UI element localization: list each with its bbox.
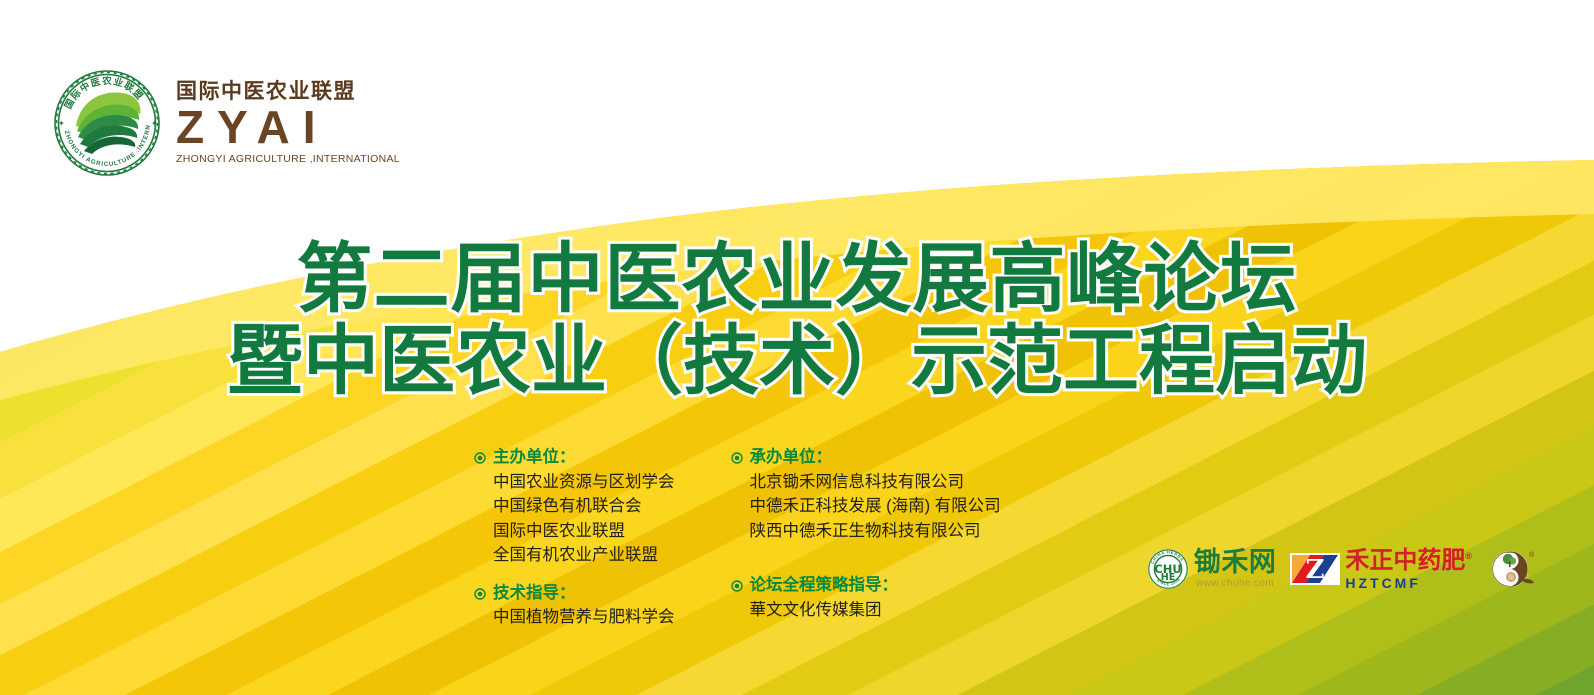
registered-mark: ® (1465, 551, 1472, 561)
sponsor-logos: CHINA HERBS SINCE 2008 CHU HE 锄禾网 www.ch… (1147, 546, 1538, 592)
credit-item-list: 中国植物营养与肥料学会 (493, 605, 675, 629)
credit-heading: 主办单位： (474, 446, 675, 470)
zyai-logo: 国际中医农业联盟 ZHONGYI AGRICULTURE .INTERNATIO… (52, 68, 400, 178)
credit-group: 承办单位： 北京锄禾网信息科技有限公司 中德禾正科技发展 (海南) 有限公司 陕… (731, 446, 1001, 543)
credit-item: 北京锄禾网信息科技有限公司 (750, 470, 1001, 494)
credit-heading-label: 论坛全程策略指导： (750, 574, 899, 598)
credit-heading: 技术指导： (474, 582, 675, 606)
credit-group: 主办单位： 中国农业资源与区划学会 中国绿色有机联合会 国际中医农业联盟 全国有… (474, 446, 675, 568)
credit-item: 全国有机农业产业联盟 (493, 543, 675, 567)
registered-mark: ® (1529, 551, 1535, 559)
taiji-tree-logo[interactable]: ® (1486, 546, 1538, 592)
credit-item: 陕西中德禾正生物科技有限公司 (750, 519, 1001, 543)
logo-chinese-name: 国际中医农业联盟 (176, 80, 400, 103)
circle-dot-bullet-icon (474, 588, 486, 600)
hztcmf-mark-letter: Z (1306, 555, 1325, 585)
credit-item: 華文文化传媒集团 (750, 598, 1001, 622)
credits-section: 主办单位： 中国农业资源与区划学会 中国绿色有机联合会 国际中医农业联盟 全国有… (474, 446, 1001, 630)
chuhe-badge-icon: CHINA HERBS SINCE 2008 CHU HE (1147, 548, 1189, 590)
credit-heading-label: 承办单位： (750, 446, 833, 470)
hztcmf-chinese-label: 禾正中药肥 (1345, 547, 1465, 574)
taiji-tree-icon: ® (1486, 546, 1538, 592)
credit-item: 中德禾正科技发展 (海南) 有限公司 (750, 494, 1001, 518)
credit-group: 技术指导： 中国植物营养与肥料学会 (474, 582, 675, 630)
credit-item: 中国植物营养与肥料学会 (493, 605, 675, 629)
chuhe-url: www.chuhe.com (1196, 579, 1274, 589)
credit-heading: 论坛全程策略指导： (731, 574, 1001, 598)
hztcmf-english-name: HZTCMF (1345, 576, 1472, 590)
circle-dot-bullet-icon (731, 452, 743, 464)
credit-item-list: 中国农业资源与区划学会 中国绿色有机联合会 国际中医农业联盟 全国有机农业产业联… (493, 470, 675, 568)
credit-item: 中国农业资源与区划学会 (493, 470, 675, 494)
credit-heading-label: 技术指导： (493, 582, 576, 606)
credit-item: 中国绿色有机联合会 (493, 494, 675, 518)
credits-right-column: 承办单位： 北京锄禾网信息科技有限公司 中德禾正科技发展 (海南) 有限公司 陕… (731, 446, 1001, 630)
credits-left-column: 主办单位： 中国农业资源与区划学会 中国绿色有机联合会 国际中医农业联盟 全国有… (474, 446, 675, 630)
chuhe-logo[interactable]: CHINA HERBS SINCE 2008 CHU HE 锄禾网 www.ch… (1147, 548, 1277, 590)
credit-item-list: 北京锄禾网信息科技有限公司 中德禾正科技发展 (海南) 有限公司 陕西中德禾正生… (750, 470, 1001, 543)
zyai-emblem-icon: 国际中医农业联盟 ZHONGYI AGRICULTURE .INTERNATIO… (52, 68, 162, 178)
circle-dot-bullet-icon (474, 452, 486, 464)
svg-text:HE: HE (1161, 572, 1175, 583)
credit-item-list: 華文文化传媒集团 (750, 598, 1001, 622)
credit-group: 论坛全程策略指导： 華文文化传媒集团 (731, 574, 1001, 622)
credit-heading-label: 主办单位： (493, 446, 576, 470)
hztcmf-z-mark-icon: Z (1290, 549, 1340, 589)
logo-acronym: ZYAI (176, 104, 400, 150)
credit-item: 国际中医农业联盟 (493, 519, 675, 543)
conference-banner: 国际中医农业联盟 ZHONGYI AGRICULTURE .INTERNATIO… (0, 0, 1594, 695)
svg-text:✦: ✦ (58, 119, 65, 128)
chuhe-chinese-name: 锄禾网 (1194, 549, 1277, 576)
circle-dot-bullet-icon (731, 580, 743, 592)
logo-english-name: ZHONGYI AGRICULTURE ,INTERNATIONAL (176, 153, 400, 166)
credit-heading: 承办单位： (731, 446, 1001, 470)
zyai-wordmark: 国际中医农业联盟 ZYAI ZHONGYI AGRICULTURE ,INTER… (176, 80, 400, 166)
hztcmf-chinese-name: 禾正中药肥® (1345, 549, 1472, 573)
svg-text:✦: ✦ (151, 119, 158, 128)
hztcmf-logo[interactable]: Z 禾正中药肥® HZTCMF (1290, 549, 1472, 590)
